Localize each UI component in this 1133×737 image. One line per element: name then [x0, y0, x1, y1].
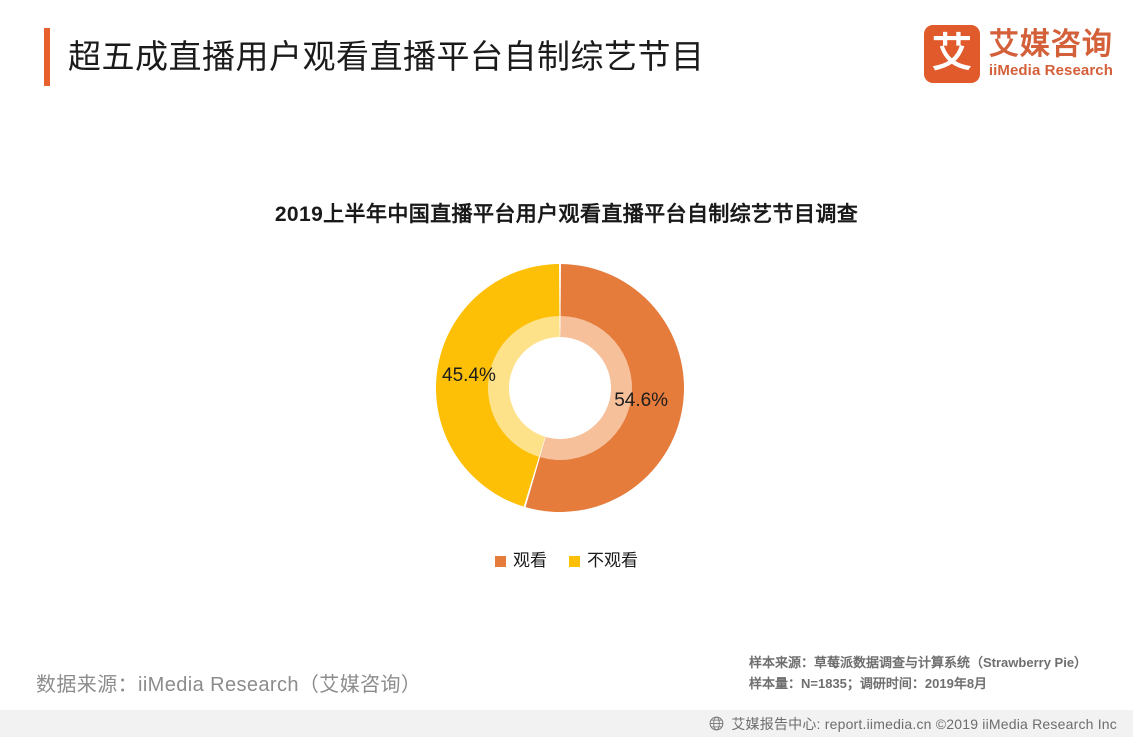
legend-label-not-watch: 不观看 — [587, 551, 638, 571]
legend-item-watch[interactable]: 观看 — [495, 551, 547, 571]
brand-name-cn: 艾媒咨询 — [989, 28, 1113, 61]
sample-source-line: 样本来源：草莓派数据调查与计算系统（Strawberry Pie） — [749, 652, 1119, 673]
legend-label-watch: 观看 — [513, 551, 547, 571]
sample-size-line: 样本量：N=1835；调研时间：2019年8月 — [749, 673, 1119, 694]
legend-item-not-watch[interactable]: 不观看 — [569, 551, 638, 571]
footer-text: 艾媒报告中心: report.iimedia.cn ©2019 iiMedia … — [731, 714, 1117, 734]
globe-icon — [709, 716, 724, 731]
donut-chart: 54.6% 45.4% — [436, 264, 684, 512]
footer-bar: 艾媒报告中心: report.iimedia.cn ©2019 iiMedia … — [0, 710, 1133, 737]
data-source-note: 数据来源：iiMedia Research（艾媒咨询） — [36, 668, 421, 697]
page-title: 超五成直播用户观看直播平台自制综艺节目 — [68, 30, 705, 84]
legend-swatch-watch — [495, 556, 506, 567]
pie-label-watch: 54.6% — [614, 390, 668, 411]
pie-label-not-watch: 45.4% — [442, 365, 496, 386]
legend-swatch-not-watch — [569, 556, 580, 567]
chart-title: 2019上半年中国直播平台用户观看直播平台自制综艺节目调查 — [0, 198, 1133, 228]
brand-name-en: iiMedia Research — [989, 61, 1113, 81]
brand-logo: 艾 艾媒咨询 iiMedia Research — [924, 23, 1113, 85]
donut-chart-svg: 54.6% 45.4% — [436, 264, 684, 512]
chart-legend: 观看 不观看 — [0, 551, 1133, 571]
sample-info: 样本来源：草莓派数据调查与计算系统（Strawberry Pie） 样本量：N=… — [749, 652, 1119, 694]
iimedia-logo-icon: 艾 — [924, 25, 980, 83]
page-header: 超五成直播用户观看直播平台自制综艺节目 艾 艾媒咨询 iiMedia Resea… — [0, 0, 1133, 112]
brand-text: 艾媒咨询 iiMedia Research — [989, 25, 1113, 83]
title-accent-bar — [44, 28, 50, 86]
donut-hole — [509, 337, 611, 439]
